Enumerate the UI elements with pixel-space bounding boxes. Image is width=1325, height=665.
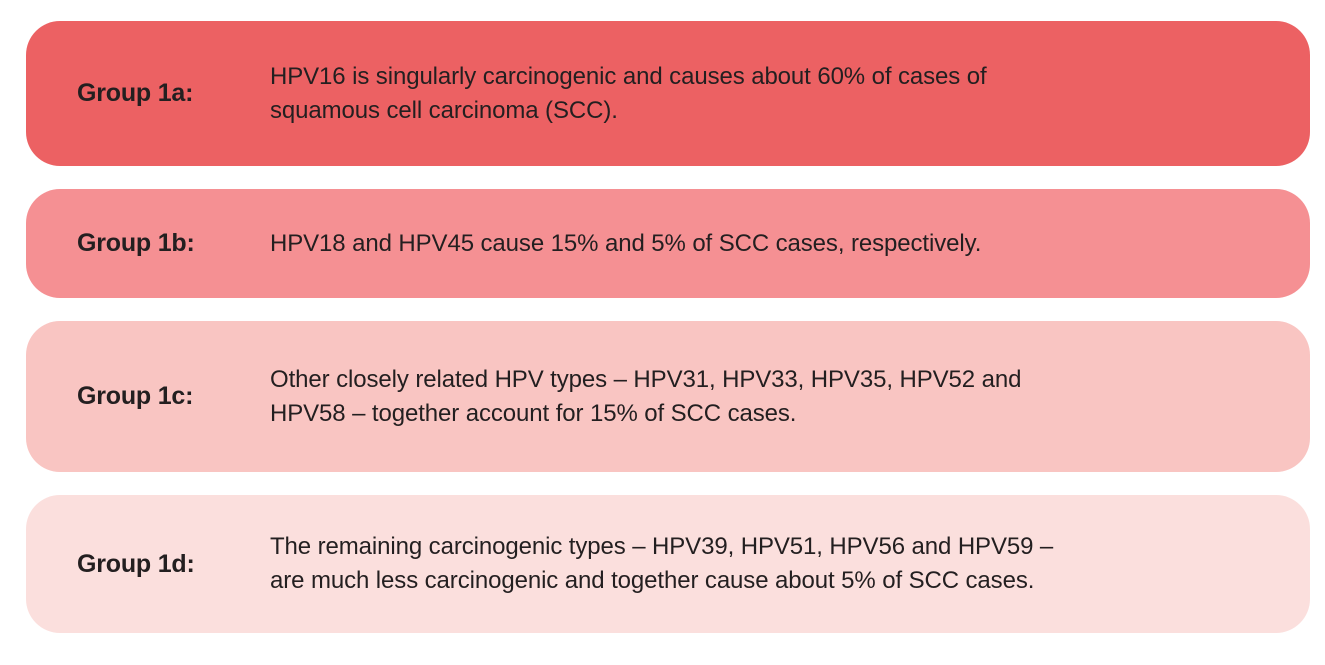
group-label: Group 1a: xyxy=(77,79,270,108)
group-row: Group 1d:The remaining carcinogenic type… xyxy=(26,495,1310,633)
group-description-line: are much less carcinogenic and together … xyxy=(270,564,1276,598)
group-description-line: Other closely related HPV types – HPV31,… xyxy=(270,363,1276,397)
group-description-line: squamous cell carcinoma (SCC). xyxy=(270,94,1276,128)
group-description: HPV18 and HPV45 cause 15% and 5% of SCC … xyxy=(270,227,1276,261)
group-label: Group 1d: xyxy=(77,550,270,579)
group-description-line: The remaining carcinogenic types – HPV39… xyxy=(270,530,1276,564)
hpv-group-list: Group 1a:HPV16 is singularly carcinogeni… xyxy=(0,0,1325,665)
group-description: The remaining carcinogenic types – HPV39… xyxy=(270,530,1276,598)
group-description-line: HPV18 and HPV45 cause 15% and 5% of SCC … xyxy=(270,227,1276,261)
group-row: Group 1b:HPV18 and HPV45 cause 15% and 5… xyxy=(26,189,1310,298)
group-label: Group 1c: xyxy=(77,382,270,411)
group-description: HPV16 is singularly carcinogenic and cau… xyxy=(270,60,1276,128)
group-description: Other closely related HPV types – HPV31,… xyxy=(270,363,1276,431)
group-description-line: HPV16 is singularly carcinogenic and cau… xyxy=(270,60,1276,94)
group-row: Group 1a:HPV16 is singularly carcinogeni… xyxy=(26,21,1310,166)
group-description-line: HPV58 – together account for 15% of SCC … xyxy=(270,397,1276,431)
group-row: Group 1c:Other closely related HPV types… xyxy=(26,321,1310,472)
group-label: Group 1b: xyxy=(77,229,270,258)
